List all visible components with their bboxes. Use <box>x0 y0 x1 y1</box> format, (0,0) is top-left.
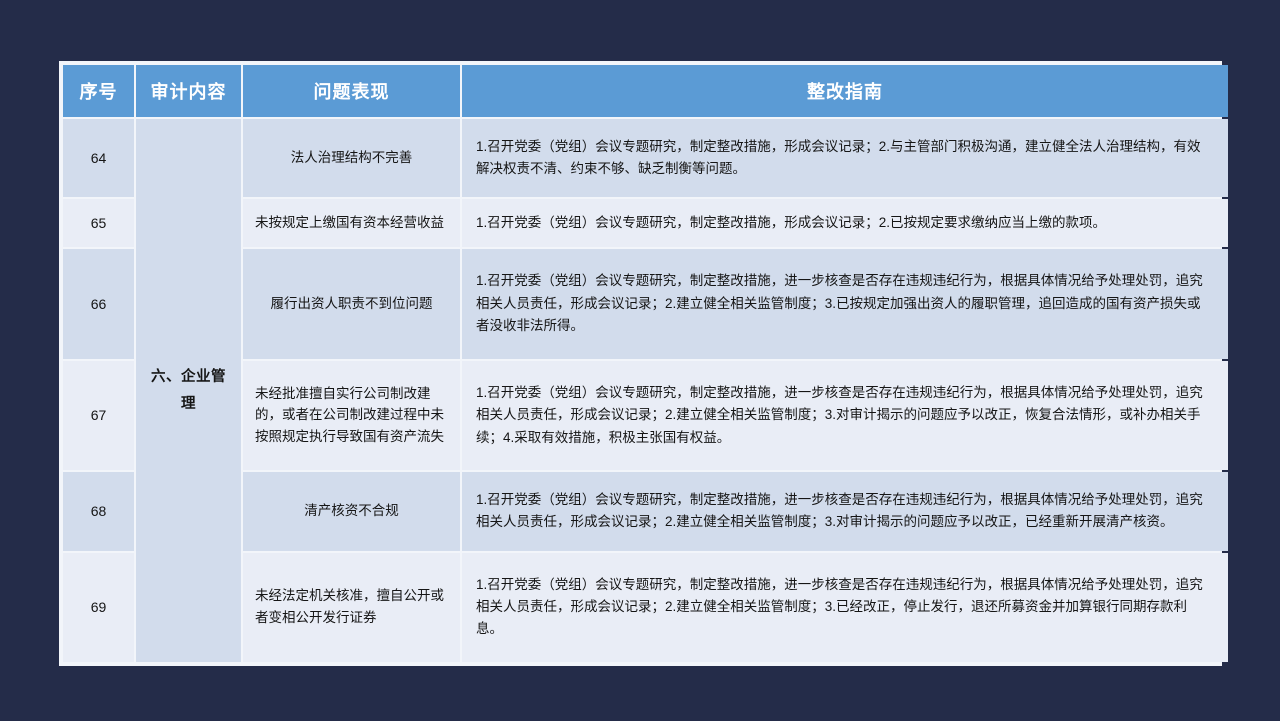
cell-issue-description: 未经法定机关核准，擅自公开或者变相公开发行证券 <box>243 553 460 662</box>
audit-rectification-table: 序号 审计内容 问题表现 整改指南 64六、企业管理法人治理结构不完善1.召开党… <box>61 63 1230 664</box>
column-header-issue: 问题表现 <box>243 65 460 117</box>
cell-sequence-number: 69 <box>63 553 134 662</box>
cell-rectification-guide: 1.召开党委（党组）会议专题研究，制定整改措施，形成会议记录；2.已按规定要求缴… <box>462 199 1228 247</box>
cell-issue-description: 法人治理结构不完善 <box>243 119 460 197</box>
cell-issue-description: 未按规定上缴国有资本经营收益 <box>243 199 460 247</box>
cell-rectification-guide: 1.召开党委（党组）会议专题研究，制定整改措施，进一步核查是否存在违规违纪行为，… <box>462 553 1228 662</box>
cell-sequence-number: 68 <box>63 472 134 550</box>
cell-sequence-number: 64 <box>63 119 134 197</box>
column-header-guide: 整改指南 <box>462 65 1228 117</box>
audit-table-container: 序号 审计内容 问题表现 整改指南 64六、企业管理法人治理结构不完善1.召开党… <box>59 61 1222 666</box>
table-header-row: 序号 审计内容 问题表现 整改指南 <box>63 65 1228 117</box>
cell-audit-category: 六、企业管理 <box>136 119 241 662</box>
column-header-category: 审计内容 <box>136 65 241 117</box>
cell-rectification-guide: 1.召开党委（党组）会议专题研究，制定整改措施，形成会议记录；2.与主管部门积极… <box>462 119 1228 197</box>
cell-sequence-number: 67 <box>63 361 134 470</box>
table-body: 64六、企业管理法人治理结构不完善1.召开党委（党组）会议专题研究，制定整改措施… <box>63 119 1228 662</box>
table-row: 64六、企业管理法人治理结构不完善1.召开党委（党组）会议专题研究，制定整改措施… <box>63 119 1228 197</box>
cell-issue-description: 未经批准擅自实行公司制改建的，或者在公司制改建过程中未按照规定执行导致国有资产流… <box>243 361 460 470</box>
table-header: 序号 审计内容 问题表现 整改指南 <box>63 65 1228 117</box>
cell-sequence-number: 65 <box>63 199 134 247</box>
cell-issue-description: 履行出资人职责不到位问题 <box>243 249 460 358</box>
cell-rectification-guide: 1.召开党委（党组）会议专题研究，制定整改措施，进一步核查是否存在违规违纪行为，… <box>462 361 1228 470</box>
cell-sequence-number: 66 <box>63 249 134 358</box>
column-header-seq: 序号 <box>63 65 134 117</box>
cell-rectification-guide: 1.召开党委（党组）会议专题研究，制定整改措施，进一步核查是否存在违规违纪行为，… <box>462 249 1228 358</box>
slide-canvas: 序号 审计内容 问题表现 整改指南 64六、企业管理法人治理结构不完善1.召开党… <box>0 0 1280 721</box>
cell-issue-description: 清产核资不合规 <box>243 472 460 550</box>
cell-rectification-guide: 1.召开党委（党组）会议专题研究，制定整改措施，进一步核查是否存在违规违纪行为，… <box>462 472 1228 550</box>
